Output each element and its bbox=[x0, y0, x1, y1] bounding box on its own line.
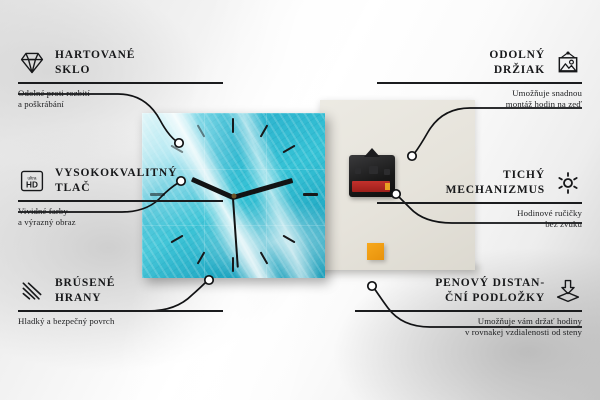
foam-pad-icon bbox=[554, 278, 582, 304]
ground-edges-icon bbox=[18, 278, 46, 304]
feature-divider bbox=[377, 202, 582, 204]
feature-title: TICHÝ MECHANIZMUS bbox=[446, 168, 545, 197]
feature-silent-mechanism: TICHÝ MECHANIZMUS Hodinové ručičky bez z… bbox=[377, 168, 582, 231]
feature-divider bbox=[355, 310, 582, 312]
hour-tick bbox=[232, 118, 234, 133]
feature-title: VYSOKOKVALITNÝ TLAČ bbox=[55, 166, 177, 195]
feature-divider bbox=[18, 310, 223, 312]
feature-title: HARTOVANÉ SKLO bbox=[55, 48, 135, 77]
feature-divider bbox=[18, 200, 223, 202]
feature-ground-edges: BRÚSENÉ HRANY Hladký a bezpečný povrch bbox=[18, 276, 223, 327]
feature-divider bbox=[18, 82, 223, 84]
diamond-icon bbox=[18, 50, 46, 76]
foam-spacer-pad bbox=[367, 243, 384, 260]
feature-description: Umožňuje vám držať hodiny v rovnakej vzd… bbox=[355, 316, 582, 339]
feature-description: Hodinové ručičky bez zvuku bbox=[377, 208, 582, 231]
feature-header: TICHÝ MECHANIZMUS bbox=[377, 168, 582, 197]
feature-divider bbox=[377, 82, 582, 84]
hour-tick bbox=[303, 193, 318, 196]
feature-description: Odolné proti rozbití a poškrábání bbox=[18, 88, 223, 111]
feature-title: ODOLNÝ DRŽIAK bbox=[489, 48, 545, 77]
feature-hardened-glass: HARTOVANÉ SKLO Odolné proti rozbití a po… bbox=[18, 48, 223, 111]
feature-description: Umožňuje snadnou montáž hodin na zeď bbox=[377, 88, 582, 111]
ultra-hd-icon: ultra HD bbox=[18, 168, 46, 194]
gear-icon bbox=[554, 170, 582, 196]
feature-header: BRÚSENÉ HRANY bbox=[18, 276, 223, 305]
hour-tick bbox=[232, 257, 234, 272]
picture-frame-icon bbox=[554, 50, 582, 76]
feature-foam-spacers: PENOVÝ DISTAN- ČNÍ PODLOŽKY Umožňuje vám… bbox=[355, 276, 582, 339]
feature-description: Vividné farby a výrazný obraz bbox=[18, 206, 223, 229]
feature-high-quality-print: ultra HD VYSOKOKVALITNÝ TLAČ Vividné far… bbox=[18, 166, 223, 229]
mechanism-screw bbox=[355, 168, 361, 174]
feature-header: ODOLNÝ DRŽIAK bbox=[377, 48, 582, 77]
feature-title: PENOVÝ DISTAN- ČNÍ PODLOŽKY bbox=[435, 276, 545, 305]
feature-title: BRÚSENÉ HRANY bbox=[55, 276, 115, 305]
svg-text:HD: HD bbox=[26, 180, 38, 189]
feature-header: ultra HD VYSOKOKVALITNÝ TLAČ bbox=[18, 166, 223, 195]
feature-header: PENOVÝ DISTAN- ČNÍ PODLOŽKY bbox=[355, 276, 582, 305]
feature-durable-holder: ODOLNÝ DRŽIAK Umožňuje snadnou montáž ho… bbox=[377, 48, 582, 111]
feature-description: Hladký a bezpečný povrch bbox=[18, 316, 223, 328]
feature-header: HARTOVANÉ SKLO bbox=[18, 48, 223, 77]
product-feature-infographic: HARTOVANÉ SKLO Odolné proti rozbití a po… bbox=[0, 0, 600, 400]
clock-center-pin bbox=[231, 193, 236, 198]
